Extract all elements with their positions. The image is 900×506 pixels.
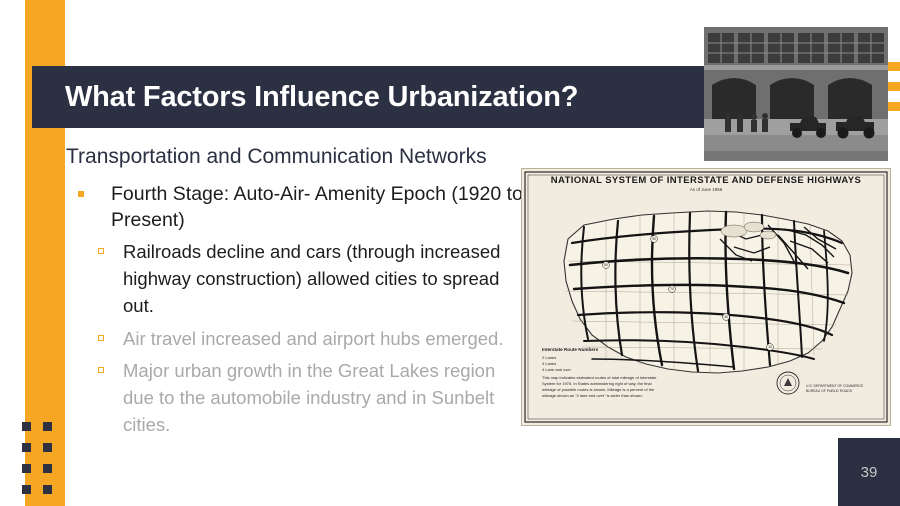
svg-text:90: 90 bbox=[652, 237, 656, 241]
factory-photo-graphic bbox=[704, 27, 888, 161]
svg-text:10: 10 bbox=[768, 345, 772, 349]
dot bbox=[22, 464, 31, 473]
bullet-level1: Fourth Stage: Auto-Air- Amenity Epoch (1… bbox=[66, 182, 526, 233]
dot bbox=[22, 443, 31, 452]
dot bbox=[43, 485, 52, 494]
dash-mark bbox=[0, 82, 18, 91]
dash-mark bbox=[0, 62, 18, 71]
map-legend-title: Interstate Route Numbers bbox=[542, 347, 662, 354]
title-band: What Factors Influence Urbanization? bbox=[32, 66, 704, 128]
dot bbox=[22, 422, 31, 431]
dash-mark bbox=[0, 102, 18, 111]
decorative-dot-grid bbox=[22, 422, 70, 506]
svg-text:40: 40 bbox=[724, 315, 728, 319]
hollow-square-bullet-icon bbox=[98, 335, 104, 341]
bullet-text: Railroads decline and cars (through incr… bbox=[123, 241, 500, 316]
square-bullet-icon bbox=[78, 191, 84, 197]
page-number: 39 bbox=[861, 464, 878, 481]
dot-row bbox=[22, 485, 70, 494]
dot-row bbox=[22, 443, 70, 452]
svg-text:U.S. DEPARTMENT OF COMMERCE: U.S. DEPARTMENT OF COMMERCE bbox=[806, 384, 864, 388]
bullet-text: Air travel increased and airport hubs em… bbox=[123, 328, 503, 349]
dot-row bbox=[22, 422, 70, 431]
map-legend-item: 4 Lane and over bbox=[542, 367, 662, 373]
left-dash-marks bbox=[0, 62, 26, 122]
map-subtitle: As of June 1958 bbox=[522, 187, 890, 192]
hollow-square-bullet-icon bbox=[98, 367, 104, 373]
map-title: NATIONAL SYSTEM OF INTERSTATE AND DEFENS… bbox=[522, 175, 890, 186]
bullet-text: Major urban growth in the Great Lakes re… bbox=[123, 360, 495, 435]
bullet-level2: Major urban growth in the Great Lakes re… bbox=[66, 358, 526, 438]
map-legend: Interstate Route Numbers 2 Lanes 4 Lanes… bbox=[542, 347, 662, 399]
sub-bullet-list: Railroads decline and cars (through incr… bbox=[66, 239, 526, 439]
subheading: Transportation and Communication Network… bbox=[66, 142, 526, 172]
dot bbox=[43, 443, 52, 452]
bullet-text: Fourth Stage: Auto-Air- Amenity Epoch (1… bbox=[111, 183, 523, 230]
bullet-level2: Railroads decline and cars (through incr… bbox=[66, 239, 526, 319]
map-legend-note: This map indicates estimated routes of t… bbox=[542, 375, 662, 399]
dot bbox=[43, 464, 52, 473]
svg-text:70: 70 bbox=[670, 287, 674, 291]
dot-row bbox=[22, 464, 70, 473]
hollow-square-bullet-icon bbox=[98, 248, 104, 254]
body-content: Transportation and Communication Network… bbox=[66, 142, 526, 445]
factory-photo bbox=[704, 27, 888, 161]
dot bbox=[43, 422, 52, 431]
interstate-highway-map: 80 70 40 10 90 U.S. DEPARTMENT OF COMMER… bbox=[521, 168, 891, 426]
dot bbox=[22, 485, 31, 494]
slide: What Factors Influence Urbanization? Tra… bbox=[0, 0, 900, 506]
svg-text:BUREAU OF PUBLIC ROADS: BUREAU OF PUBLIC ROADS bbox=[806, 389, 853, 393]
bullet-level2: Air travel increased and airport hubs em… bbox=[66, 326, 526, 353]
page-number-box: 39 bbox=[838, 438, 900, 506]
svg-text:80: 80 bbox=[604, 263, 608, 267]
page-title: What Factors Influence Urbanization? bbox=[65, 81, 578, 114]
